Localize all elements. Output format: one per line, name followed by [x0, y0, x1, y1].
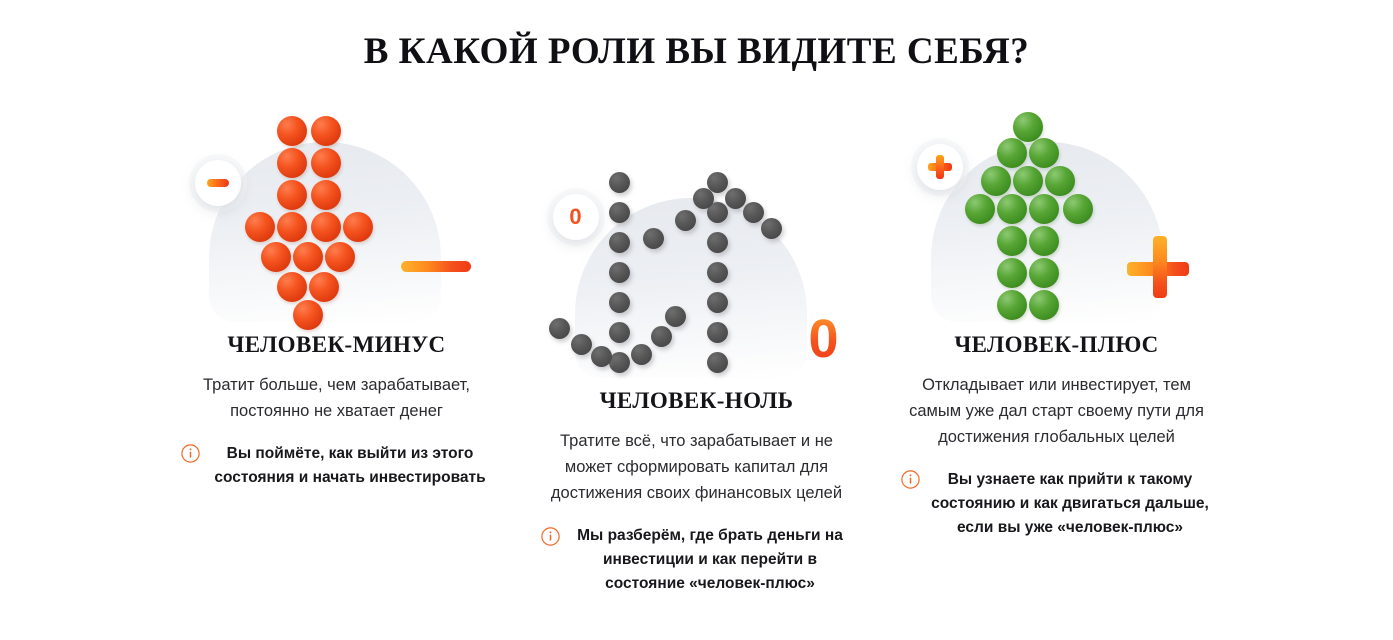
- chart-ball: [693, 188, 714, 209]
- arrow-ball: [965, 194, 995, 224]
- chart-ball: [609, 172, 630, 193]
- chart-ball: [591, 346, 612, 367]
- arrow-ball: [997, 258, 1027, 288]
- arrow-ball: [277, 212, 307, 242]
- arrow-ball: [1029, 138, 1059, 168]
- arrow-ball: [309, 272, 339, 302]
- badge-minus: [195, 160, 241, 206]
- card-note: Мы разберём, где брать деньги на инвести…: [541, 524, 853, 596]
- badge-plus: [917, 144, 963, 190]
- card-note-text: Вы узнаете как прийти к такому состоянию…: [928, 468, 1213, 540]
- arrow-ball: [311, 180, 341, 210]
- arrow-ball: [277, 272, 307, 302]
- card-chelovek-minus: ЧЕЛОВЕК-МИНУС Тратит больше, чем зарабат…: [162, 110, 512, 640]
- arrow-ball: [261, 242, 291, 272]
- chart-ball: [707, 232, 728, 253]
- chart-ball: [609, 232, 630, 253]
- chart-ball: [643, 228, 664, 249]
- chart-ball: [743, 202, 764, 223]
- chart-ball: [707, 262, 728, 283]
- chart-ball: [549, 318, 570, 339]
- minus-icon: [207, 179, 229, 187]
- chart-ball: [675, 210, 696, 231]
- card-title: ЧЕЛОВЕК-НОЛЬ: [600, 388, 794, 414]
- chart-ball: [651, 326, 672, 347]
- card-title: ЧЕЛОВЕК-МИНУС: [227, 332, 445, 358]
- illustration-flat-line: 0 0: [547, 166, 847, 378]
- chart-ball: [725, 188, 746, 209]
- card-note: Вы поймёте, как выйти из этого состояния…: [181, 442, 493, 490]
- arrow-ball: [1029, 194, 1059, 224]
- page-title: В КАКОЙ РОЛИ ВЫ ВИДИТЕ СЕБЯ?: [0, 30, 1393, 73]
- chart-ball: [707, 292, 728, 313]
- arrow-ball: [277, 180, 307, 210]
- arrow-ball: [997, 138, 1027, 168]
- chart-ball: [609, 352, 630, 373]
- arrow-ball: [311, 116, 341, 146]
- arrow-ball: [311, 212, 341, 242]
- arrow-ball: [1063, 194, 1093, 224]
- arrow-ball: [981, 166, 1011, 196]
- arrow-ball: [997, 194, 1027, 224]
- card-note-text: Вы поймёте, как выйти из этого состояния…: [208, 442, 493, 490]
- arrow-ball: [1013, 112, 1043, 142]
- arrow-ball: [1013, 166, 1043, 196]
- card-chelovek-plus: ЧЕЛОВЕК-ПЛЮС Откладывает или инвестирует…: [882, 110, 1232, 640]
- big-plus-icon: [1127, 236, 1189, 298]
- big-minus-icon: [401, 261, 471, 272]
- chart-ball: [665, 306, 686, 327]
- arrow-ball: [245, 212, 275, 242]
- chart-ball: [707, 352, 728, 373]
- arrow-ball: [997, 290, 1027, 320]
- illustration-down-arrow: [187, 110, 487, 322]
- arrow-ball: [325, 242, 355, 272]
- chart-ball: [631, 344, 652, 365]
- info-icon: [901, 470, 920, 489]
- chart-ball: [571, 334, 592, 355]
- illustration-up-arrow: [907, 110, 1207, 322]
- chart-ball: [609, 322, 630, 343]
- chart-ball: [761, 218, 782, 239]
- info-icon: [541, 527, 560, 546]
- card-title: ЧЕЛОВЕК-ПЛЮС: [954, 332, 1158, 358]
- arrow-ball: [293, 242, 323, 272]
- arrow-ball: [293, 300, 323, 330]
- info-icon: [181, 444, 200, 463]
- arrow-ball: [343, 212, 373, 242]
- chart-ball: [707, 322, 728, 343]
- arrow-ball: [1029, 258, 1059, 288]
- ball-zigzag: [547, 166, 847, 378]
- arrow-ball: [1029, 226, 1059, 256]
- ball-arrow-down: [187, 110, 487, 322]
- card-note: Вы узнаете как прийти к такому состоянию…: [901, 468, 1213, 540]
- arrow-ball: [1029, 290, 1059, 320]
- card-chelovek-nol: 0 0 ЧЕЛОВЕК-НОЛЬ Тратите всё, что зараба…: [522, 110, 872, 640]
- card-note-text: Мы разберём, где брать деньги на инвести…: [568, 524, 853, 596]
- arrow-ball: [311, 148, 341, 178]
- big-zero-icon: 0: [808, 312, 838, 366]
- arrow-ball: [1045, 166, 1075, 196]
- chart-ball: [609, 292, 630, 313]
- plus-icon: [928, 155, 952, 179]
- card-description: Тратит больше, чем зарабатывает, постоян…: [177, 372, 497, 424]
- card-description: Тратите всё, что зарабатывает и не может…: [537, 428, 857, 506]
- chart-ball: [609, 262, 630, 283]
- zero-label: 0: [569, 206, 581, 228]
- cards-container: ЧЕЛОВЕК-МИНУС Тратит больше, чем зарабат…: [0, 110, 1393, 640]
- arrow-ball: [277, 116, 307, 146]
- badge-zero: 0: [553, 194, 599, 240]
- card-description: Откладывает или инвестирует, тем самым у…: [897, 372, 1217, 450]
- arrow-ball: [277, 148, 307, 178]
- chart-ball: [609, 202, 630, 223]
- arrow-ball: [997, 226, 1027, 256]
